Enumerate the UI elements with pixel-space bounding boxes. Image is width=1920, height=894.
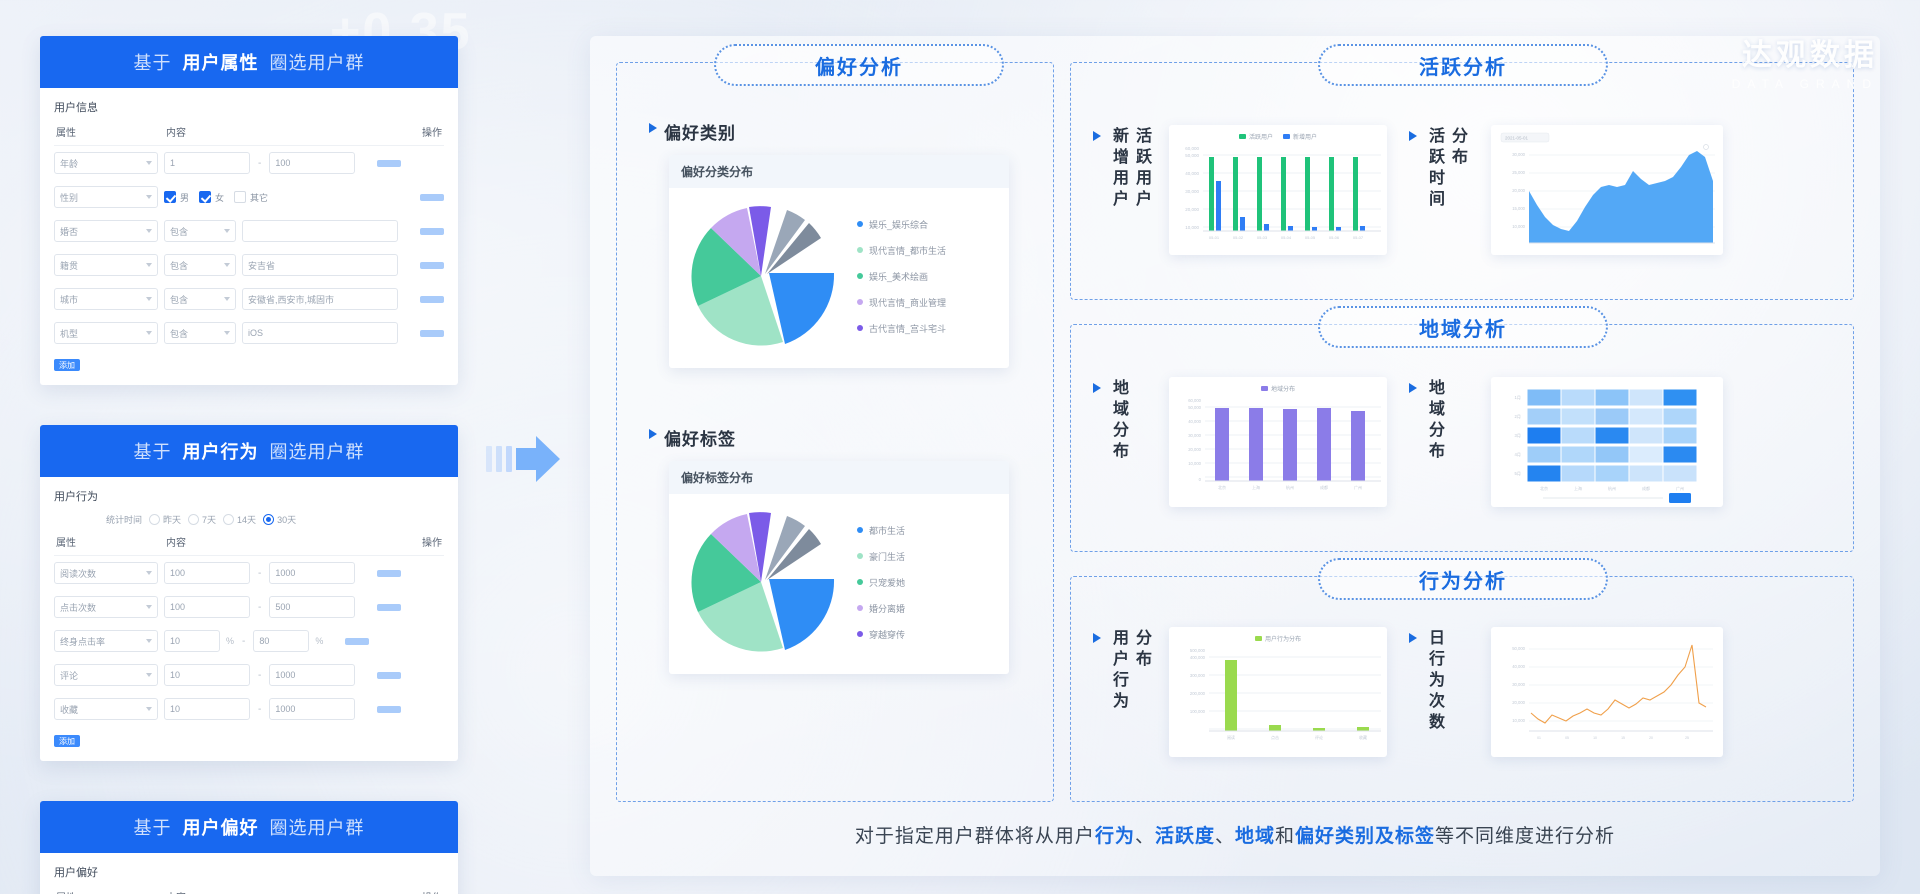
legend-label: 只宠爱她 bbox=[869, 576, 905, 589]
range-min-value: 10 bbox=[170, 670, 180, 680]
legend-label: 古代言情_宫斗宅斗 bbox=[869, 322, 946, 335]
table-row: 机型 包含 iOS bbox=[54, 316, 444, 350]
table-row: 终身点击率 10 % - 80 % bbox=[54, 624, 444, 658]
delete-link-icon[interactable] bbox=[377, 160, 401, 167]
arrow-motion-line bbox=[506, 446, 512, 472]
legend-item[interactable]: 用户行为分布 bbox=[1255, 634, 1301, 643]
range-separator: - bbox=[256, 602, 263, 613]
vertical-label: 日行为次数 bbox=[1424, 629, 1444, 734]
heatmap-geo: 1月2月3月 4月5月 北京上海杭州 成都广州 bbox=[1491, 377, 1723, 507]
card-user-attribute: 基于 用户属性 圈选用户群 用户信息 属性 内容 操作 年龄 1 - 100 性… bbox=[40, 36, 458, 385]
radio-label: 14天 bbox=[237, 513, 256, 526]
range-min-input[interactable]: 1 bbox=[164, 152, 250, 174]
legend-swatch bbox=[857, 299, 863, 305]
svg-text:10,000: 10,000 bbox=[1512, 718, 1525, 723]
svg-text:4月: 4月 bbox=[1514, 452, 1521, 458]
vertical-label: 分布 bbox=[1131, 629, 1151, 713]
svg-text:广州: 广州 bbox=[1676, 485, 1684, 491]
line-chart-daily-behavior: 50,00040,00030,000 20,00010,000 010510 1… bbox=[1491, 627, 1723, 757]
svg-text:上海: 上海 bbox=[1574, 485, 1582, 491]
add-row-button[interactable]: 添加 bbox=[54, 735, 80, 747]
group-geo-analysis: 地域分析 地域分布 地域分布 60,00050,00040,000 30,000… bbox=[1070, 324, 1854, 552]
radio-label: 30天 bbox=[277, 513, 296, 526]
title-highlight: 用户行为 bbox=[183, 442, 259, 462]
range-max-input[interactable]: 1000 bbox=[269, 562, 355, 584]
radio-30days[interactable]: 30天 bbox=[263, 513, 296, 526]
area-chart-active-time: 2021-05-01 30,00025,00020,000 15,00010,0… bbox=[1491, 125, 1723, 255]
column-action: 操作 bbox=[402, 534, 442, 549]
legend-item[interactable]: 都市生活 bbox=[857, 524, 905, 537]
range-max-value: 80 bbox=[259, 636, 269, 646]
legend-item[interactable]: 婚分离婚 bbox=[857, 602, 905, 615]
triangle-right-icon bbox=[1093, 131, 1101, 141]
svg-text:25,000: 25,000 bbox=[1512, 170, 1525, 175]
operator-value: 包含 bbox=[170, 293, 188, 306]
attr-select[interactable]: 收藏 bbox=[54, 698, 158, 720]
svg-text:30,000: 30,000 bbox=[1512, 152, 1525, 157]
value-input[interactable]: iOS bbox=[242, 322, 398, 344]
svg-text:40,000: 40,000 bbox=[1512, 664, 1525, 669]
svg-text:05-05: 05-05 bbox=[1305, 235, 1316, 240]
delete-link-icon[interactable] bbox=[377, 672, 401, 679]
time-range-radio-group: 统计时间 昨天 7天 14天 30天 bbox=[106, 513, 444, 526]
range-min-input[interactable]: 100 bbox=[164, 562, 250, 584]
svg-text:50,000: 50,000 bbox=[1188, 405, 1201, 410]
caption-part: 和 bbox=[1275, 826, 1295, 847]
attr-value: 终身点击率 bbox=[60, 635, 105, 648]
chart-card-new-active-users: 活跃用户 新增用户 60,00050,00040,000 30,00020,00… bbox=[1169, 125, 1387, 255]
legend-label: 娱乐_美术绘画 bbox=[869, 270, 928, 283]
delete-link-icon[interactable] bbox=[420, 262, 444, 269]
attr-value: 籍贯 bbox=[60, 259, 78, 272]
value-input[interactable]: 安吉省 bbox=[242, 254, 398, 276]
attr-value: 点击次数 bbox=[60, 601, 96, 614]
section-label: 用户信息 bbox=[54, 99, 444, 115]
title-suffix: 圈选用户群 bbox=[270, 53, 365, 73]
range-max-input[interactable]: 1000 bbox=[269, 698, 355, 720]
svg-text:点击: 点击 bbox=[1271, 734, 1279, 740]
svg-text:05: 05 bbox=[1565, 736, 1569, 740]
svg-text:成都: 成都 bbox=[1320, 484, 1328, 490]
row-action[interactable] bbox=[361, 598, 401, 616]
range-max-value: 500 bbox=[275, 602, 290, 612]
group-behavior-analysis: 行为分析 用户行为 分布 用户行为分布 500,000400,000300,00… bbox=[1070, 576, 1854, 802]
triangle-right-icon bbox=[1409, 131, 1417, 141]
vertical-label: 活跃时间 bbox=[1424, 127, 1444, 211]
radio-label: 7天 bbox=[202, 513, 216, 526]
attr-value: 收藏 bbox=[60, 703, 78, 716]
svg-text:3月: 3月 bbox=[1514, 433, 1521, 439]
pill-active-analysis: 活跃分析 bbox=[1318, 44, 1608, 86]
chart-card-geo-heatmap: 1月2月3月 4月5月 北京上海杭州 成都广州 bbox=[1491, 377, 1723, 507]
vertical-label: 分布 bbox=[1447, 127, 1467, 211]
radio-7days[interactable]: 7天 bbox=[188, 513, 216, 526]
range-min-input[interactable]: 10 bbox=[164, 630, 220, 652]
value-input[interactable] bbox=[242, 220, 398, 242]
row-action[interactable] bbox=[361, 154, 401, 172]
range-separator: - bbox=[256, 670, 263, 681]
svg-text:评论: 评论 bbox=[1315, 734, 1323, 740]
checkbox-male-label: 男 bbox=[180, 191, 189, 204]
chart-card-preference-category: 偏好分类分布 娱乐_娱乐综合 现代言情_都市生活 bbox=[669, 155, 1009, 368]
attr-select[interactable]: 城市 bbox=[54, 288, 158, 310]
chart-card-active-time: 2021-05-01 30,00025,00020,000 15,00010,0… bbox=[1491, 125, 1723, 255]
range-max-value: 100 bbox=[275, 158, 290, 168]
range-min-input[interactable]: 100 bbox=[164, 596, 250, 618]
column-content: 内容 bbox=[166, 534, 402, 549]
svg-text:10,000: 10,000 bbox=[1512, 224, 1525, 229]
svg-text:15,000: 15,000 bbox=[1512, 206, 1525, 211]
legend-label: 婚分离婚 bbox=[869, 602, 905, 615]
title-prefix: 基于 bbox=[133, 818, 171, 838]
column-action: 操作 bbox=[402, 889, 442, 894]
checkbox-other[interactable] bbox=[234, 191, 246, 203]
range-min-input[interactable]: 10 bbox=[164, 698, 250, 720]
checkbox-female[interactable] bbox=[199, 191, 211, 203]
svg-text:2021-05-01: 2021-05-01 bbox=[1505, 136, 1529, 141]
legend-item[interactable]: 古代言情_宫斗宅斗 bbox=[857, 322, 946, 335]
caption-part: 对于指定用户群体将从用户 bbox=[855, 826, 1095, 847]
legend-swatch bbox=[857, 553, 863, 559]
svg-text:40,000: 40,000 bbox=[1185, 171, 1199, 176]
legend-swatch bbox=[857, 273, 863, 279]
row-action[interactable] bbox=[404, 324, 444, 342]
legend-item[interactable]: 娱乐_娱乐综合 bbox=[857, 218, 946, 231]
attr-value: 评论 bbox=[60, 669, 78, 682]
checkbox-female-label: 女 bbox=[215, 191, 224, 204]
value-input[interactable]: 安徽省,西安市,城固市 bbox=[242, 288, 398, 310]
chevron-down-icon bbox=[224, 331, 230, 335]
attr-value: 性别 bbox=[60, 191, 78, 204]
triangle-right-icon bbox=[1093, 633, 1101, 643]
card-user-behavior-header: 基于 用户行为 圈选用户群 bbox=[40, 425, 458, 477]
section-label: 用户偏好 bbox=[54, 864, 444, 880]
card-user-preference: 基于 用户偏好 圈选用户群 用户偏好 属性 内容 操作 偏好类别 包含 历史× … bbox=[40, 801, 458, 894]
svg-text:05-04: 05-04 bbox=[1281, 235, 1292, 240]
svg-text:300,000: 300,000 bbox=[1190, 673, 1206, 678]
delete-link-icon[interactable] bbox=[420, 194, 444, 201]
svg-text:10,000: 10,000 bbox=[1185, 225, 1199, 230]
chart-card-preference-tag: 偏好标签分布 都市生活 豪门生活 只宠爱她 bbox=[669, 461, 1009, 674]
svg-text:北京: 北京 bbox=[1540, 485, 1548, 491]
group-active-analysis: 活跃分析 新增用户 活跃用户 活跃用户 新增用户 60,00050,00040 bbox=[1070, 62, 1854, 300]
legend-new-active-users: 活跃用户 新增用户 bbox=[1169, 125, 1387, 141]
svg-text:2月: 2月 bbox=[1514, 414, 1521, 420]
radio-label: 昨天 bbox=[163, 513, 181, 526]
legend-item[interactable]: 穿越穿传 bbox=[857, 628, 905, 641]
section-label: 用户行为 bbox=[54, 488, 444, 504]
svg-text:30,000: 30,000 bbox=[1185, 189, 1199, 194]
range-min-value: 1 bbox=[170, 158, 175, 168]
svg-text:20,000: 20,000 bbox=[1188, 447, 1201, 452]
bar-chart-new-active-users: 60,00050,00040,000 30,00020,00010,000 05… bbox=[1169, 141, 1387, 245]
chevron-down-icon bbox=[146, 263, 152, 267]
caption-part: 等不同维度进行分析 bbox=[1435, 826, 1615, 847]
svg-text:阅读: 阅读 bbox=[1227, 734, 1235, 740]
chevron-down-icon bbox=[224, 297, 230, 301]
radio-icon[interactable] bbox=[263, 514, 274, 525]
svg-text:200,000: 200,000 bbox=[1190, 691, 1206, 696]
caption-highlight: 行为 bbox=[1095, 826, 1135, 847]
row-action[interactable] bbox=[404, 256, 444, 274]
range-separator: - bbox=[256, 158, 263, 169]
operator-value: 包含 bbox=[170, 259, 188, 272]
chevron-down-icon bbox=[146, 571, 152, 575]
range-max-value: 1000 bbox=[275, 670, 295, 680]
checkbox-other-label: 其它 bbox=[250, 191, 268, 204]
arrow-motion-line bbox=[496, 446, 502, 472]
chevron-down-icon bbox=[146, 195, 152, 199]
caption-highlight: 地域 bbox=[1235, 826, 1275, 847]
pill-behavior-analysis: 行为分析 bbox=[1318, 558, 1608, 600]
attr-value: 阅读次数 bbox=[60, 567, 96, 580]
legend-swatch bbox=[857, 579, 863, 585]
radio-yesterday[interactable]: 昨天 bbox=[149, 513, 181, 526]
svg-text:400,000: 400,000 bbox=[1190, 655, 1206, 660]
legend-swatch bbox=[857, 527, 863, 533]
column-attr: 属性 bbox=[56, 534, 166, 549]
triangle-right-icon bbox=[1409, 383, 1417, 393]
svg-text:500,000: 500,000 bbox=[1190, 648, 1206, 653]
legend-item[interactable]: 活跃用户 bbox=[1239, 132, 1273, 141]
chevron-down-icon bbox=[146, 605, 152, 609]
chart-title: 偏好分类分布 bbox=[669, 155, 1009, 188]
brand-logo: 达观数据 DATA GRAND bbox=[1732, 30, 1878, 91]
range-min-value: 10 bbox=[170, 704, 180, 714]
value-text: iOS bbox=[248, 328, 263, 338]
column-attr: 属性 bbox=[56, 124, 166, 139]
svg-text:上海: 上海 bbox=[1252, 484, 1260, 490]
triangle-right-icon bbox=[649, 123, 657, 133]
column-content: 内容 bbox=[166, 889, 402, 894]
svg-text:北京: 北京 bbox=[1218, 484, 1226, 490]
radio-14days[interactable]: 14天 bbox=[223, 513, 256, 526]
svg-text:60,000: 60,000 bbox=[1185, 146, 1199, 151]
attr-select[interactable]: 性别 bbox=[54, 186, 158, 208]
left-card-column: 基于 用户属性 圈选用户群 用户信息 属性 内容 操作 年龄 1 - 100 性… bbox=[40, 36, 458, 894]
column-attr: 属性 bbox=[56, 889, 166, 894]
attr-value: 年龄 bbox=[60, 157, 78, 170]
attr-select[interactable]: 评论 bbox=[54, 664, 158, 686]
legend-label: 穿越穿传 bbox=[869, 628, 905, 641]
attr-select[interactable]: 婚否 bbox=[54, 220, 158, 242]
attr-select[interactable]: 年龄 bbox=[54, 152, 158, 174]
range-min-input[interactable]: 10 bbox=[164, 664, 250, 686]
row-action[interactable] bbox=[361, 700, 401, 718]
attr-select[interactable]: 籍贯 bbox=[54, 254, 158, 276]
delete-link-icon[interactable] bbox=[377, 570, 401, 577]
chart-card-user-behavior: 用户行为分布 500,000400,000300,000 200,000100,… bbox=[1169, 627, 1387, 757]
range-max-input[interactable]: 80 bbox=[253, 630, 309, 652]
operator-select[interactable]: 包含 bbox=[164, 322, 236, 344]
value-text: 安吉省 bbox=[248, 259, 275, 272]
title-highlight: 用户属性 bbox=[183, 53, 259, 73]
add-row-button[interactable]: 添加 bbox=[54, 359, 80, 371]
svg-text:30,000: 30,000 bbox=[1188, 433, 1201, 438]
flow-arrow bbox=[486, 430, 566, 490]
bar-chart-user-behavior: 500,000400,000300,000 200,000100,000 阅读点… bbox=[1169, 643, 1387, 747]
legend-item[interactable]: 现代言情_商业管理 bbox=[857, 296, 946, 309]
chevron-down-icon bbox=[224, 263, 230, 267]
operator-select[interactable]: 包含 bbox=[164, 220, 236, 242]
legend-swatch bbox=[857, 325, 863, 331]
triangle-right-icon bbox=[1409, 633, 1417, 643]
svg-text:20,000: 20,000 bbox=[1512, 188, 1525, 193]
operator-value: 包含 bbox=[170, 225, 188, 238]
row-action[interactable] bbox=[361, 666, 401, 684]
attr-select[interactable]: 阅读次数 bbox=[54, 562, 158, 584]
percent-unit: % bbox=[315, 636, 323, 646]
title-suffix: 圈选用户群 bbox=[270, 442, 365, 462]
panel-caption: 对于指定用户群体将从用户行为、活跃度、地域和偏好类别及标签等不同维度进行分析 bbox=[590, 821, 1880, 848]
attr-select[interactable]: 终身点击率 bbox=[54, 630, 158, 652]
legend-swatch bbox=[1239, 134, 1246, 139]
radio-icon[interactable] bbox=[188, 514, 199, 525]
bullet-preference-tag: 偏好标签 bbox=[649, 425, 736, 450]
row-action[interactable] bbox=[404, 188, 444, 206]
radio-icon[interactable] bbox=[223, 514, 234, 525]
arrow-head-icon bbox=[536, 436, 560, 482]
range-max-value: 1000 bbox=[275, 704, 295, 714]
legend-label: 都市生活 bbox=[869, 524, 905, 537]
delete-link-icon[interactable] bbox=[377, 604, 401, 611]
delete-link-icon[interactable] bbox=[420, 330, 444, 337]
legend-geo-bar: 地域分布 bbox=[1169, 377, 1387, 393]
bullet-label: 偏好类别 bbox=[664, 119, 736, 144]
operator-select[interactable]: 包含 bbox=[164, 254, 236, 276]
legend-item[interactable]: 新增用户 bbox=[1283, 132, 1317, 141]
chevron-down-icon bbox=[146, 297, 152, 301]
svg-text:广州: 广州 bbox=[1354, 484, 1362, 490]
title-highlight: 用户偏好 bbox=[183, 818, 259, 838]
attr-select[interactable]: 机型 bbox=[54, 322, 158, 344]
table-header: 属性 内容 操作 bbox=[54, 124, 444, 146]
table-row: 评论 10 - 1000 bbox=[54, 658, 444, 692]
delete-link-icon[interactable] bbox=[345, 638, 369, 645]
svg-text:60,000: 60,000 bbox=[1188, 398, 1201, 403]
analysis-panel: 偏好分析 偏好类别 偏好分类分布 bbox=[590, 36, 1880, 876]
range-separator: - bbox=[256, 568, 263, 579]
chart-title: 偏好标签分布 bbox=[669, 461, 1009, 494]
svg-text:50,000: 50,000 bbox=[1185, 153, 1199, 158]
checkbox-item[interactable]: 男 bbox=[164, 191, 189, 204]
legend-item[interactable]: 现代言情_都市生活 bbox=[857, 244, 946, 257]
arrow-motion-line bbox=[486, 446, 492, 472]
legend-item[interactable]: 只宠爱她 bbox=[857, 576, 905, 589]
svg-text:收藏: 收藏 bbox=[1359, 734, 1367, 740]
svg-text:10,000: 10,000 bbox=[1188, 461, 1201, 466]
svg-text:25: 25 bbox=[1685, 736, 1689, 740]
svg-text:杭州: 杭州 bbox=[1286, 484, 1294, 490]
card-user-preference-header: 基于 用户偏好 圈选用户群 bbox=[40, 801, 458, 853]
chevron-down-icon bbox=[146, 639, 152, 643]
table-row: 年龄 1 - 100 bbox=[54, 146, 444, 180]
triangle-right-icon bbox=[649, 429, 657, 439]
svg-text:05-06: 05-06 bbox=[1329, 235, 1340, 240]
row-action[interactable] bbox=[404, 290, 444, 308]
svg-text:20: 20 bbox=[1649, 736, 1653, 740]
legend-swatch bbox=[857, 631, 863, 637]
legend-label: 豪门生活 bbox=[869, 550, 905, 563]
svg-text:30,000: 30,000 bbox=[1512, 682, 1525, 687]
table-row: 婚否 包含 bbox=[54, 214, 444, 248]
bullet-preference-category: 偏好类别 bbox=[649, 119, 736, 144]
legend-swatch bbox=[857, 247, 863, 253]
row-action[interactable] bbox=[329, 632, 369, 650]
delete-link-icon[interactable] bbox=[420, 228, 444, 235]
legend-preference-tag: 都市生活 豪门生活 只宠爱她 婚分离婚 穿越穿传 bbox=[849, 524, 905, 641]
svg-text:成都: 成都 bbox=[1642, 485, 1650, 491]
svg-text:05-01: 05-01 bbox=[1209, 235, 1220, 240]
pie-chart-preference-category bbox=[679, 200, 849, 352]
row-action[interactable] bbox=[404, 222, 444, 240]
svg-text:05-07: 05-07 bbox=[1353, 235, 1364, 240]
triangle-right-icon bbox=[1093, 383, 1101, 393]
radio-icon[interactable] bbox=[149, 514, 160, 525]
table-row: 城市 包含 安徽省,西安市,城固市 bbox=[54, 282, 444, 316]
chevron-down-icon bbox=[146, 331, 152, 335]
range-min-value: 10 bbox=[170, 636, 180, 646]
svg-text:15: 15 bbox=[1621, 736, 1625, 740]
svg-text:20,000: 20,000 bbox=[1185, 207, 1199, 212]
range-max-input[interactable]: 100 bbox=[269, 152, 355, 174]
svg-text:01: 01 bbox=[1537, 736, 1541, 740]
table-row: 点击次数 100 - 500 bbox=[54, 590, 444, 624]
caption-highlight: 活跃度 bbox=[1155, 826, 1215, 847]
svg-text:1月: 1月 bbox=[1514, 395, 1521, 401]
caption-highlight: 偏好类别及标签 bbox=[1295, 826, 1435, 847]
range-max-value: 1000 bbox=[275, 568, 295, 578]
attr-value: 婚否 bbox=[60, 225, 78, 238]
attr-select[interactable]: 点击次数 bbox=[54, 596, 158, 618]
vertical-label: 新增用户 bbox=[1108, 127, 1128, 211]
chevron-down-icon bbox=[146, 707, 152, 711]
vertical-label: 地域分布 bbox=[1424, 379, 1444, 463]
pie-chart-preference-tag bbox=[679, 506, 849, 658]
checkbox-item[interactable]: 其它 bbox=[234, 191, 268, 204]
delete-link-icon[interactable] bbox=[377, 706, 401, 713]
chevron-down-icon bbox=[146, 161, 152, 165]
legend-item[interactable]: 豪门生活 bbox=[857, 550, 905, 563]
svg-text:05-03: 05-03 bbox=[1257, 235, 1268, 240]
legend-preference-category: 娱乐_娱乐综合 现代言情_都市生活 娱乐_美术绘画 现代言情_商业管理 古代言情… bbox=[849, 218, 946, 335]
legend-label: 现代言情_都市生活 bbox=[869, 244, 946, 257]
range-max-input[interactable]: 500 bbox=[269, 596, 355, 618]
vertical-label: 活跃用户 bbox=[1131, 127, 1151, 211]
checkbox-item[interactable]: 女 bbox=[199, 191, 224, 204]
pill-preference-analysis: 偏好分析 bbox=[714, 44, 1004, 86]
table-row: 阅读次数 100 - 1000 bbox=[54, 556, 444, 590]
range-max-input[interactable]: 1000 bbox=[269, 664, 355, 686]
chevron-down-icon bbox=[224, 229, 230, 233]
radio-group-label: 统计时间 bbox=[106, 513, 142, 526]
legend-swatch bbox=[1261, 386, 1268, 391]
svg-text:40,000: 40,000 bbox=[1188, 419, 1201, 424]
vertical-label: 用户行为 bbox=[1108, 629, 1128, 713]
legend-user-behavior: 用户行为分布 bbox=[1169, 627, 1387, 643]
range-min-value: 100 bbox=[170, 568, 185, 578]
svg-text:50,000: 50,000 bbox=[1512, 646, 1525, 651]
legend-swatch bbox=[1255, 636, 1262, 641]
delete-link-icon[interactable] bbox=[420, 296, 444, 303]
row-action[interactable] bbox=[361, 564, 401, 582]
vertical-label: 地域分布 bbox=[1108, 379, 1128, 463]
checkbox-male[interactable] bbox=[164, 191, 176, 203]
legend-item[interactable]: 娱乐_美术绘画 bbox=[857, 270, 946, 283]
percent-unit: % bbox=[226, 636, 234, 646]
legend-item[interactable]: 地域分布 bbox=[1261, 384, 1295, 393]
operator-select[interactable]: 包含 bbox=[164, 288, 236, 310]
